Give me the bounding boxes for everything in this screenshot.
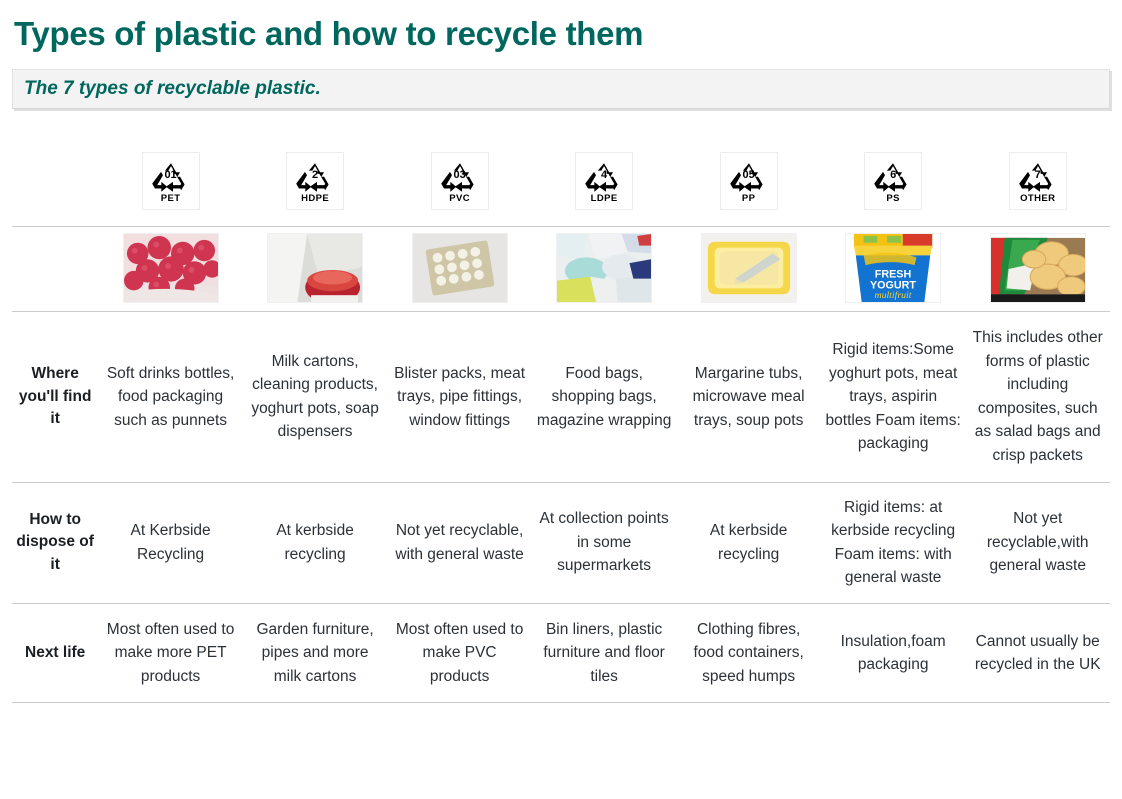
milk-bottle-red-cap-photo xyxy=(267,233,363,303)
resin-number: 05 xyxy=(729,170,769,181)
cell-where-2: Milk cartons, cleaning products, yoghurt… xyxy=(243,312,388,482)
resin-code-label: HDPE xyxy=(301,193,329,204)
recycle-arrows-icon: 01 xyxy=(151,161,191,194)
resin-code-label: PVC xyxy=(449,193,470,204)
photo-cell-5 xyxy=(676,227,821,312)
recycling-symbol-tile: 2 HDPE xyxy=(286,152,344,210)
resin-number: 7 xyxy=(1018,170,1058,181)
cell-next-1: Most often used to make more PET product… xyxy=(98,603,243,703)
recycling-symbol-tile: 05 PP xyxy=(720,152,778,210)
resin-number: 03 xyxy=(440,170,480,181)
photo-cell-4 xyxy=(532,227,677,312)
resin-code-label: OTHER xyxy=(1020,193,1055,204)
infographic-page: Types of plastic and how to recycle them… xyxy=(0,16,1122,799)
cell-next-2: Garden furniture, pipes and more milk ca… xyxy=(243,603,388,703)
cell-dispose-4: At collection points in some supermarket… xyxy=(532,482,677,603)
cell-dispose-1: At Kerbside Recycling xyxy=(98,482,243,603)
margarine-tub-photo xyxy=(701,233,797,303)
cell-where-6: Rigid items:Some yoghurt pots, meat tray… xyxy=(821,312,966,482)
photo-cell-1 xyxy=(98,227,243,312)
recycling-symbol-tile: 4 LDPE xyxy=(575,152,633,210)
recycle-arrows-icon: 4 xyxy=(584,161,624,194)
table-row-where: Where you'll find it Soft drinks bottles… xyxy=(12,312,1110,482)
plastic-types-table: 01 PET 2 xyxy=(12,142,1110,703)
recycling-symbol-tile: 6 PS xyxy=(864,152,922,210)
recycling-symbol-cell-3: 03 PVC xyxy=(387,142,532,227)
recycling-symbol-tile: 01 PET xyxy=(142,152,200,210)
cell-next-5: Clothing fibres, food containers, speed … xyxy=(676,603,821,703)
row-label-where: Where you'll find it xyxy=(12,312,98,482)
photo-cell-6: FRESH YOGURT multifruit xyxy=(821,227,966,312)
cell-where-3: Blister packs, meat trays, pipe fittings… xyxy=(387,312,532,482)
recycle-arrows-icon: 05 xyxy=(729,161,769,194)
table-row-dispose: How to dispose of it At Kerbside Recycli… xyxy=(12,482,1110,603)
recycling-symbol-tile: 7 OTHER xyxy=(1009,152,1067,210)
cell-next-6: Insulation,foam packaging xyxy=(821,603,966,703)
recycle-arrows-icon: 7 xyxy=(1018,161,1058,194)
subtitle-text: The 7 types of recyclable plastic. xyxy=(24,78,321,100)
photo-cell-7 xyxy=(965,227,1110,312)
blister-pack-pills-photo xyxy=(412,233,508,303)
cell-where-1: Soft drinks bottles, food packaging such… xyxy=(98,312,243,482)
resin-code-label: PS xyxy=(886,193,899,204)
cell-dispose-7: Not yet recyclable,with general waste xyxy=(965,482,1110,603)
resin-number: 6 xyxy=(873,170,913,181)
recycling-symbol-tile: 03 PVC xyxy=(431,152,489,210)
raspberries-in-punnet-photo xyxy=(123,233,219,303)
table-bottom-border xyxy=(12,703,1110,704)
cell-dispose-2: At kerbside recycling xyxy=(243,482,388,603)
resin-code-label: LDPE xyxy=(591,193,618,204)
cell-where-4: Food bags, shopping bags, magazine wrapp… xyxy=(532,312,677,482)
subtitle-bar: The 7 types of recyclable plastic. xyxy=(12,69,1110,109)
recycling-symbol-cell-6: 6 PS xyxy=(821,142,966,227)
cell-next-7: Cannot usually be recycled in the UK xyxy=(965,603,1110,703)
recycle-arrows-icon: 2 xyxy=(295,161,335,194)
recycling-symbol-cell-5: 05 PP xyxy=(676,142,821,227)
plastic-bags-photo xyxy=(556,233,652,303)
photo-row: FRESH YOGURT multifruit xyxy=(12,227,1110,312)
resin-code-label: PP xyxy=(742,193,755,204)
row-label-next-life: Next life xyxy=(12,603,98,703)
cell-next-4: Bin liners, plastic furniture and floor … xyxy=(532,603,677,703)
crisp-packet-photo xyxy=(990,233,1086,303)
recycling-symbol-cell-4: 4 LDPE xyxy=(532,142,677,227)
row-label-dispose: How to dispose of it xyxy=(12,482,98,603)
svg-text:multifruit: multifruit xyxy=(875,290,912,301)
resin-number: 4 xyxy=(584,170,624,181)
recycle-arrows-icon: 6 xyxy=(873,161,913,194)
photo-row-spacer xyxy=(12,227,98,312)
photo-cell-3 xyxy=(387,227,532,312)
cell-dispose-3: Not yet recyclable, with general waste xyxy=(387,482,532,603)
recycling-symbol-cell-1: 01 PET xyxy=(98,142,243,227)
resin-number: 01 xyxy=(151,170,191,181)
cell-dispose-5: At kerbside recycling xyxy=(676,482,821,603)
resin-code-label: PET xyxy=(161,193,181,204)
recycling-symbol-row: 01 PET 2 xyxy=(12,142,1110,227)
fresh-yogurt-pot-photo: FRESH YOGURT multifruit xyxy=(845,233,941,303)
cell-next-3: Most often used to make PVC products xyxy=(387,603,532,703)
recycling-symbol-cell-7: 7 OTHER xyxy=(965,142,1110,227)
cell-where-5: Margarine tubs, microwave meal trays, so… xyxy=(676,312,821,482)
recycle-arrows-icon: 03 xyxy=(440,161,480,194)
cell-dispose-6: Rigid items: at kerbside recycling Foam … xyxy=(821,482,966,603)
table-row-next-life: Next life Most often used to make more P… xyxy=(12,603,1110,703)
symbol-row-spacer xyxy=(12,142,98,227)
photo-cell-2 xyxy=(243,227,388,312)
recycling-symbol-cell-2: 2 HDPE xyxy=(243,142,388,227)
page-title: Types of plastic and how to recycle them xyxy=(14,16,1110,52)
cell-where-7: This includes other forms of plastic inc… xyxy=(965,312,1110,482)
resin-number: 2 xyxy=(295,170,335,181)
